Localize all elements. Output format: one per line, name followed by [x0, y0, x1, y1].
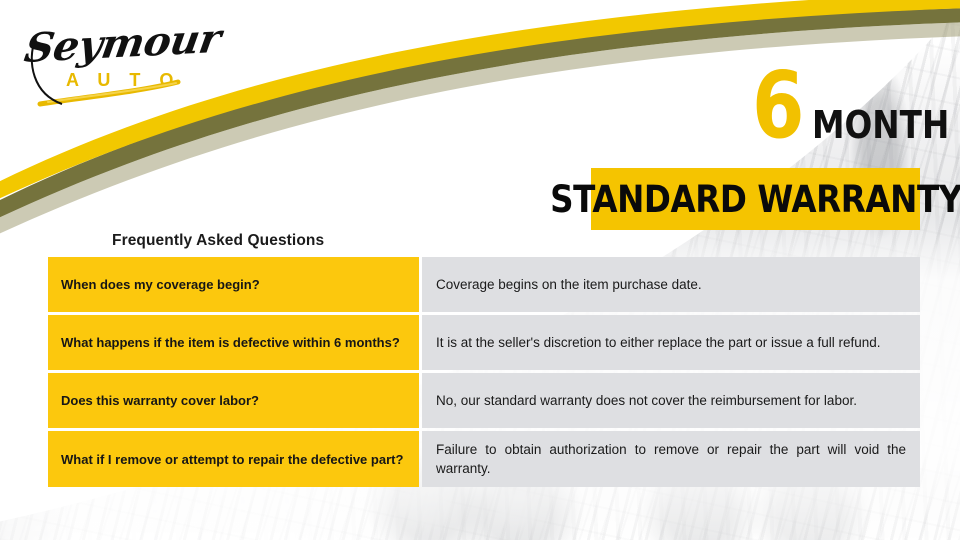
warranty-slide: Seymour A U T O 6 MONTH STANDARD WARRANT… [0, 0, 960, 540]
faq-question-text: When does my coverage begin? [61, 276, 260, 293]
duration-number: 6 [752, 60, 803, 152]
seymour-auto-logo: Seymour A U T O [18, 12, 198, 108]
standard-warranty-banner: STANDARD WARRANTY [591, 168, 920, 230]
faq-answer-text: Failure to obtain authorization to remov… [436, 440, 906, 478]
faq-answer-text: It is at the seller's discretion to eith… [436, 333, 906, 352]
faq-question-cell: What happens if the item is defective wi… [48, 315, 419, 370]
standard-warranty-label: STANDARD WARRANTY [550, 181, 960, 218]
faq-question-cell: What if I remove or attempt to repair th… [48, 431, 419, 487]
faq-question-text: Does this warranty cover labor? [61, 392, 259, 409]
faq-question-text: What if I remove or attempt to repair th… [61, 451, 403, 468]
faq-question-cell: Does this warranty cover labor? [48, 373, 419, 428]
faq-answer-text: Coverage begins on the item purchase dat… [436, 275, 906, 294]
table-row: What happens if the item is defective wi… [48, 315, 920, 370]
faq-answer-cell: No, our standard warranty does not cover… [422, 373, 920, 428]
table-row: What if I remove or attempt to repair th… [48, 431, 920, 487]
faq-section-title: Frequently Asked Questions [112, 232, 324, 250]
faq-answer-cell: Failure to obtain authorization to remov… [422, 431, 920, 487]
faq-table: When does my coverage begin? Coverage be… [48, 257, 920, 490]
table-row: Does this warranty cover labor? No, our … [48, 373, 920, 428]
faq-answer-cell: Coverage begins on the item purchase dat… [422, 257, 920, 312]
faq-question-cell: When does my coverage begin? [48, 257, 419, 312]
duration-unit: MONTH [812, 106, 949, 144]
logo-underline-swash [18, 12, 198, 108]
table-row: When does my coverage begin? Coverage be… [48, 257, 920, 312]
faq-answer-text: No, our standard warranty does not cover… [436, 391, 906, 410]
faq-question-text: What happens if the item is defective wi… [61, 334, 400, 351]
faq-answer-cell: It is at the seller's discretion to eith… [422, 315, 920, 370]
